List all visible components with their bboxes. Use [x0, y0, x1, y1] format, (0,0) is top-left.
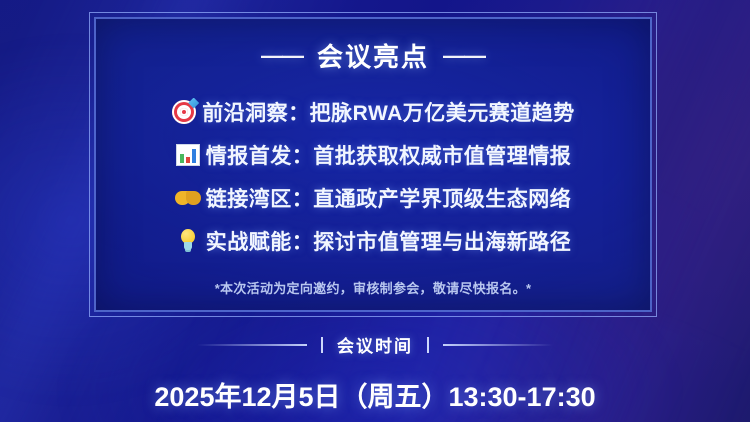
highlight-text-4: 实战赋能：探讨市值管理与出海新路径: [206, 226, 572, 256]
highlight-row-2: 情报首发：首批获取权威市值管理情报: [122, 133, 624, 176]
bar-chart-icon: [175, 142, 201, 168]
registration-footnote: *本次活动为定向邀约，审核制参会，敬请尽快报名。*: [96, 278, 650, 297]
highlights-card-inner: —— 会议亮点 —— 前沿洞察：把脉RWA万亿美元赛道趋势 情报首发：首批获取权…: [94, 17, 652, 312]
heading-rule-right: [443, 344, 553, 346]
heading-tick-right: [427, 337, 429, 353]
highlight-text-3: 链接湾区：直通政产学界顶级生态网络: [206, 183, 572, 213]
highlights-list: 前沿洞察：把脉RWA万亿美元赛道趋势 情报首发：首批获取权威市值管理情报 链接湾…: [96, 90, 650, 262]
poster-canvas: —— 会议亮点 —— 前沿洞察：把脉RWA万亿美元赛道趋势 情报首发：首批获取权…: [0, 0, 750, 422]
heading-rule-left: [197, 344, 307, 346]
heading-tick-left: [321, 337, 323, 353]
meeting-time-label: 会议时间: [337, 332, 413, 357]
highlights-card: —— 会议亮点 —— 前沿洞察：把脉RWA万亿美元赛道趋势 情报首发：首批获取权…: [89, 12, 657, 317]
highlight-text-2: 情报首发：首批获取权威市值管理情报: [206, 140, 572, 170]
meeting-datetime: 2025年12月5日（周五）13:30-17:30: [0, 375, 750, 414]
title-dash-left: ——: [261, 43, 303, 69]
handshake-icon: [175, 185, 201, 211]
card-title-row: —— 会议亮点 ——: [96, 37, 650, 74]
highlight-row-3: 链接湾区：直通政产学界顶级生态网络: [122, 176, 624, 219]
highlight-row-1: 前沿洞察：把脉RWA万亿美元赛道趋势: [122, 90, 624, 133]
target-icon: [171, 99, 197, 125]
title-dash-right: ——: [443, 43, 485, 69]
highlight-text-1: 前沿洞察：把脉RWA万亿美元赛道趋势: [202, 97, 575, 127]
lightbulb-icon: [175, 228, 201, 254]
highlight-row-4: 实战赋能：探讨市值管理与出海新路径: [122, 219, 624, 262]
meeting-time-heading: 会议时间: [0, 332, 750, 357]
page-title: 会议亮点: [317, 37, 429, 74]
